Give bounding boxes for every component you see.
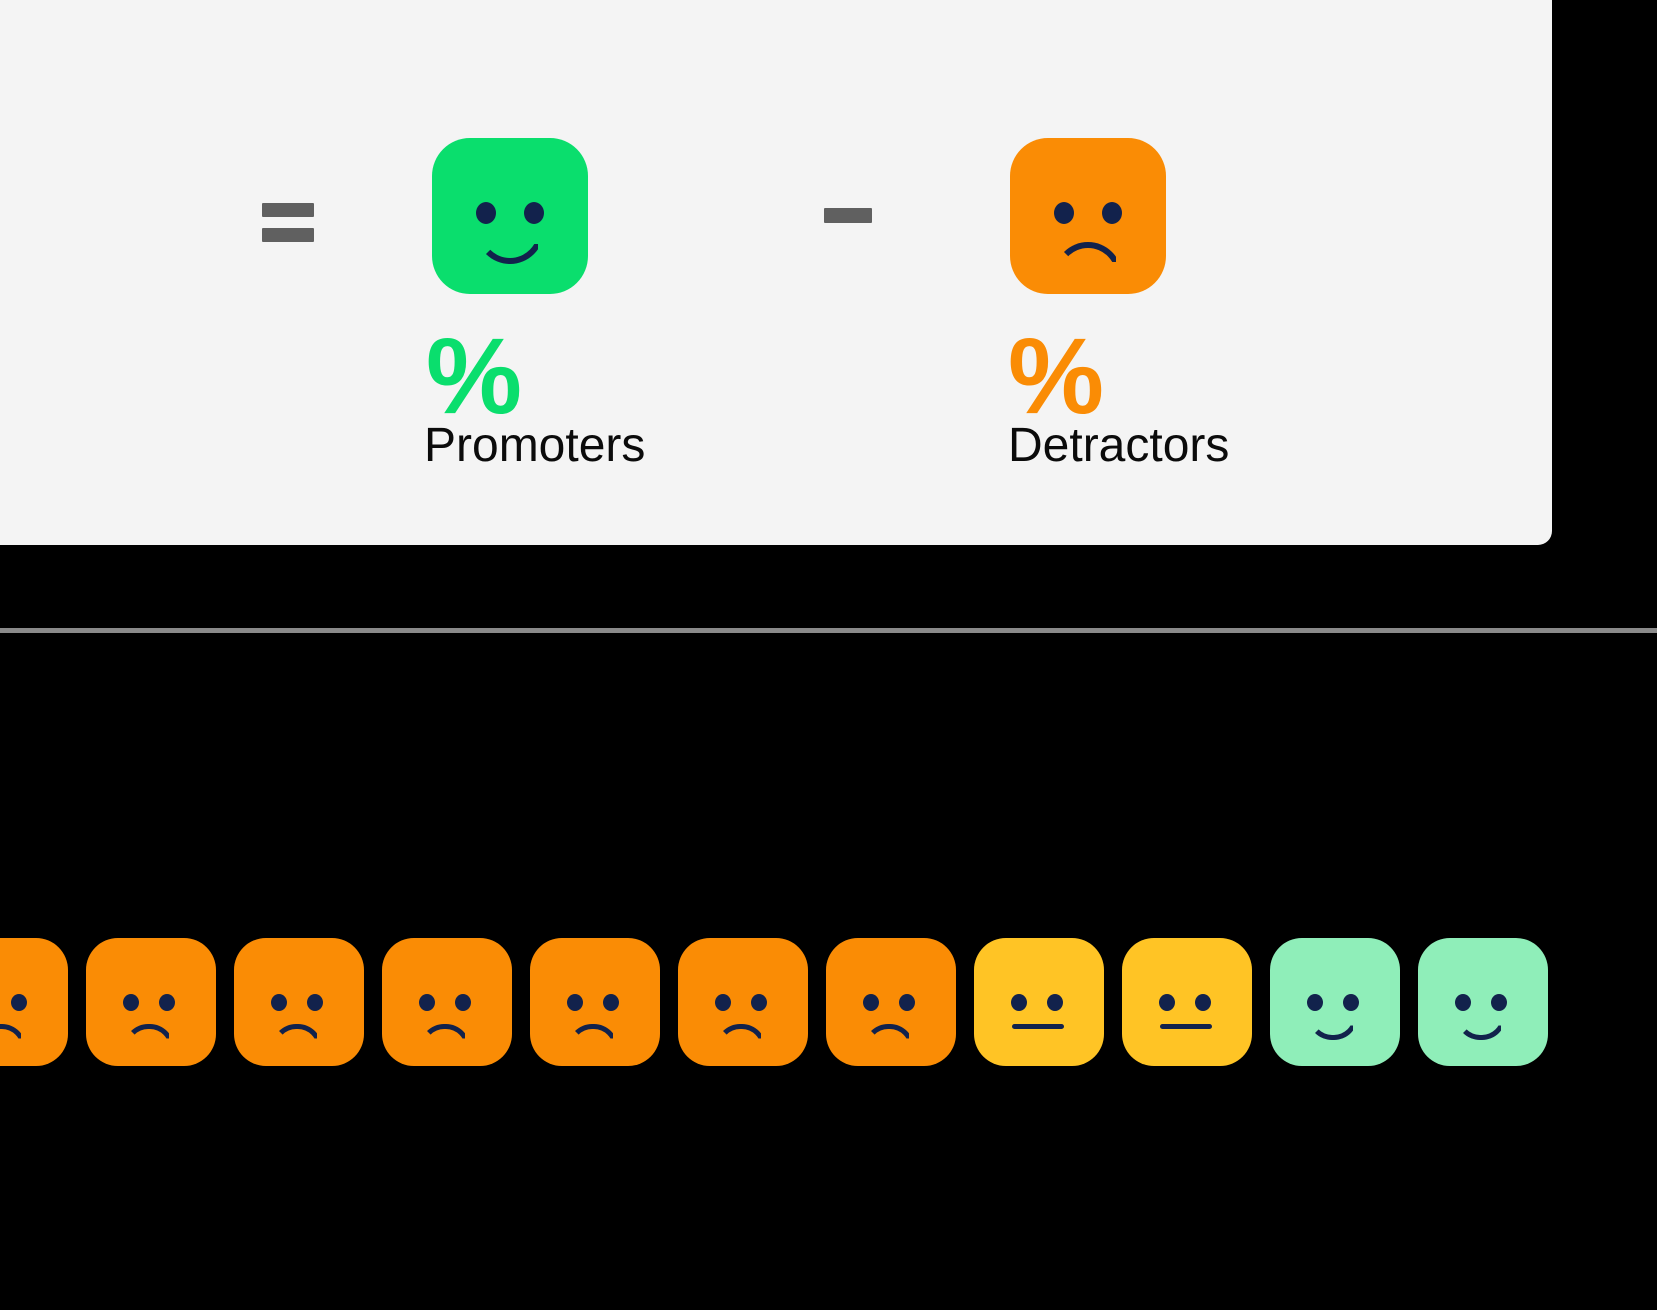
eye-right <box>1343 994 1359 1011</box>
scale-face-8[interactable] <box>1122 938 1252 1066</box>
scale-face-4[interactable] <box>530 938 660 1066</box>
eye-right <box>1102 202 1122 224</box>
nps-explainer-screen: % % Promoters Detractors <box>0 0 1657 1310</box>
nps-formula-card: % % Promoters Detractors <box>0 0 1552 545</box>
eye-left <box>1159 994 1175 1011</box>
mouth-frown <box>568 1024 618 1048</box>
mouth-neutral <box>1012 1024 1064 1029</box>
eye-left <box>1455 994 1471 1011</box>
eye-right <box>159 994 175 1011</box>
eye-right <box>1047 994 1063 1011</box>
nps-formula-row: % % Promoters Detractors <box>0 60 1300 410</box>
mouth-frown <box>124 1024 174 1048</box>
mouth-frown <box>716 1024 766 1048</box>
scale-face-list <box>0 938 1548 1066</box>
scale-face-10[interactable] <box>1418 938 1548 1066</box>
mouth-frown <box>1054 242 1122 276</box>
detractors-label: Detractors <box>1008 422 1229 470</box>
scale-face-6[interactable] <box>826 938 956 1066</box>
eye-left <box>715 994 731 1011</box>
eye-left <box>1307 994 1323 1011</box>
eye-right <box>603 994 619 1011</box>
equals-icon <box>262 200 314 244</box>
mouth-frown <box>0 1024 26 1048</box>
promoters-percent-symbol: % <box>426 322 520 430</box>
equals-bar-top <box>262 203 314 217</box>
nps-scale-strip <box>0 938 1657 1310</box>
section-divider <box>0 628 1657 633</box>
eye-left <box>271 994 287 1011</box>
eye-right <box>524 202 544 224</box>
mouth-frown <box>272 1024 322 1048</box>
detractors-percent-symbol: % <box>1008 322 1102 430</box>
promoters-label: Promoters <box>424 422 645 470</box>
eye-left <box>863 994 879 1011</box>
eye-right <box>751 994 767 1011</box>
scale-face-7[interactable] <box>974 938 1104 1066</box>
scale-face-2[interactable] <box>234 938 364 1066</box>
scale-face-0[interactable] <box>0 938 68 1066</box>
mouth-neutral <box>1160 1024 1212 1029</box>
eye-right <box>455 994 471 1011</box>
eye-right <box>899 994 915 1011</box>
mouth-smile <box>1308 1016 1358 1040</box>
mouth-frown <box>864 1024 914 1048</box>
mouth-frown <box>420 1024 470 1048</box>
promoters-happy-face-icon <box>432 138 588 294</box>
scale-face-9[interactable] <box>1270 938 1400 1066</box>
eye-left <box>419 994 435 1011</box>
eye-left <box>476 202 496 224</box>
eye-left <box>1054 202 1074 224</box>
minus-icon <box>824 208 872 223</box>
mouth-smile <box>1456 1016 1506 1040</box>
eye-left <box>1011 994 1027 1011</box>
eye-right <box>307 994 323 1011</box>
eye-right <box>1195 994 1211 1011</box>
eye-left <box>567 994 583 1011</box>
mouth-smile <box>476 230 544 264</box>
eye-right <box>1491 994 1507 1011</box>
scale-face-5[interactable] <box>678 938 808 1066</box>
scale-face-1[interactable] <box>86 938 216 1066</box>
equals-bar-bottom <box>262 228 314 242</box>
scale-face-3[interactable] <box>382 938 512 1066</box>
eye-right <box>11 994 27 1011</box>
eye-left <box>123 994 139 1011</box>
detractors-sad-face-icon <box>1010 138 1166 294</box>
